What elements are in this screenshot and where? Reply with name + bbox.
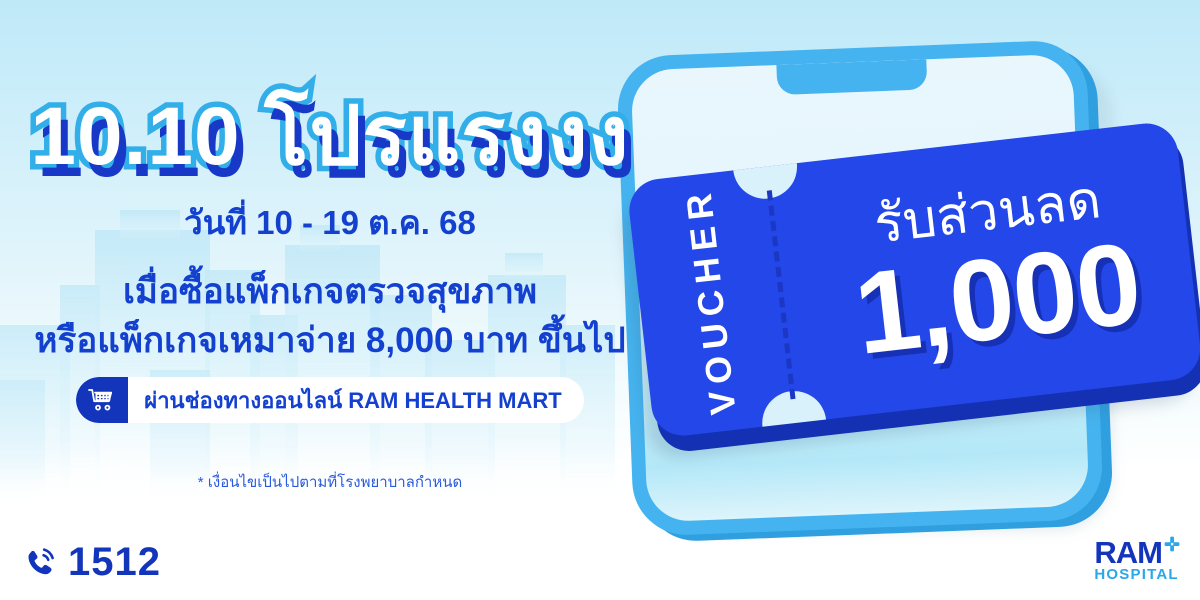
channel-pill-row: ผ่านช่องทางออนไลน์ RAM HEALTH MART <box>0 377 660 423</box>
voucher-amount: 1,000 <box>849 224 1146 372</box>
cart-icon-badge <box>76 377 128 423</box>
left-content-column: 10.10 โปรแรงงง วันที่ 10 - 19 ต.ค. 68 เม… <box>0 0 660 600</box>
ram-hospital-logo: RAM HOSPITAL <box>1094 538 1180 584</box>
promo-date-range: วันที่ 10 - 19 ต.ค. 68 <box>0 196 660 249</box>
logo-subtitle: HOSPITAL <box>1094 567 1180 584</box>
phone-call-icon <box>22 545 58 581</box>
voucher-main-content: รับส่วนลด 1,000 <box>785 120 1200 421</box>
online-channel-pill[interactable]: ผ่านช่องทางออนไลน์ RAM HEALTH MART <box>76 377 583 423</box>
headline: 10.10 โปรแรงงง <box>0 96 660 178</box>
phone-notch <box>776 59 927 95</box>
hotline-block[interactable]: 1512 <box>22 540 161 585</box>
condition-line-1: เมื่อซื้อแพ็กเกจตรวจสุขภาพ <box>0 264 660 319</box>
promo-banner: VOUCHER รับส่วนลด 1,000 10.10 โปรแรงงง ว… <box>0 0 1200 600</box>
medical-cross-icon <box>1164 536 1180 552</box>
hotline-number: 1512 <box>68 540 161 585</box>
terms-fineprint: * เงื่อนไขเป็นไปตามที่โรงพยาบาลกำหนด <box>0 470 660 494</box>
voucher-stub-label: VOUCHER <box>677 184 745 417</box>
logo-wordmark: RAM <box>1094 538 1162 567</box>
online-channel-label: ผ่านช่องทางออนไลน์ RAM HEALTH MART <box>128 383 561 418</box>
condition-line-2: หรือแพ็กเกจเหมาจ่าย 8,000 บาท ขึ้นไป <box>0 313 660 368</box>
shopping-cart-icon <box>87 387 117 413</box>
logo-wordmark-row: RAM <box>1094 538 1180 567</box>
